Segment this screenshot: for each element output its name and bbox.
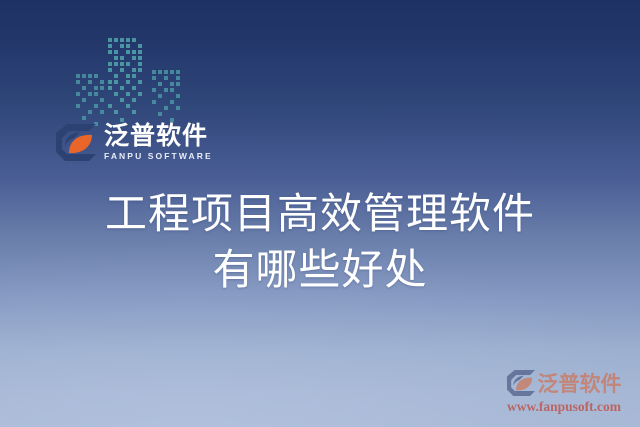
page-title-line-2: 有哪些好处 [0, 242, 640, 298]
brand-lockup: 泛普软件 FANPU SOFTWARE [56, 124, 213, 161]
fanpu-logo-mark-icon [56, 124, 96, 161]
promo-banner: 泛普软件 FANPU SOFTWARE 工程项目高效管理软件 有哪些好处 泛普软… [0, 0, 640, 427]
brand-wordmark: 泛普软件 FANPU SOFTWARE [104, 124, 213, 161]
brand-name-cn: 泛普软件 [104, 124, 213, 149]
watermark-logo-row: 泛普软件 [494, 368, 634, 398]
page-title-line-1: 工程项目高效管理软件 [0, 186, 640, 242]
watermark-url: www.fanpusoft.com [494, 399, 634, 415]
watermark-name-cn: 泛普软件 [538, 368, 622, 398]
brand-name-en: FANPU SOFTWARE [104, 152, 213, 161]
fanpu-watermark-mark-icon [507, 370, 535, 396]
watermark: 泛普软件 www.fanpusoft.com [494, 368, 634, 415]
pixel-city-skyline-icon [70, 34, 210, 132]
page-title: 工程项目高效管理软件 有哪些好处 [0, 186, 640, 298]
